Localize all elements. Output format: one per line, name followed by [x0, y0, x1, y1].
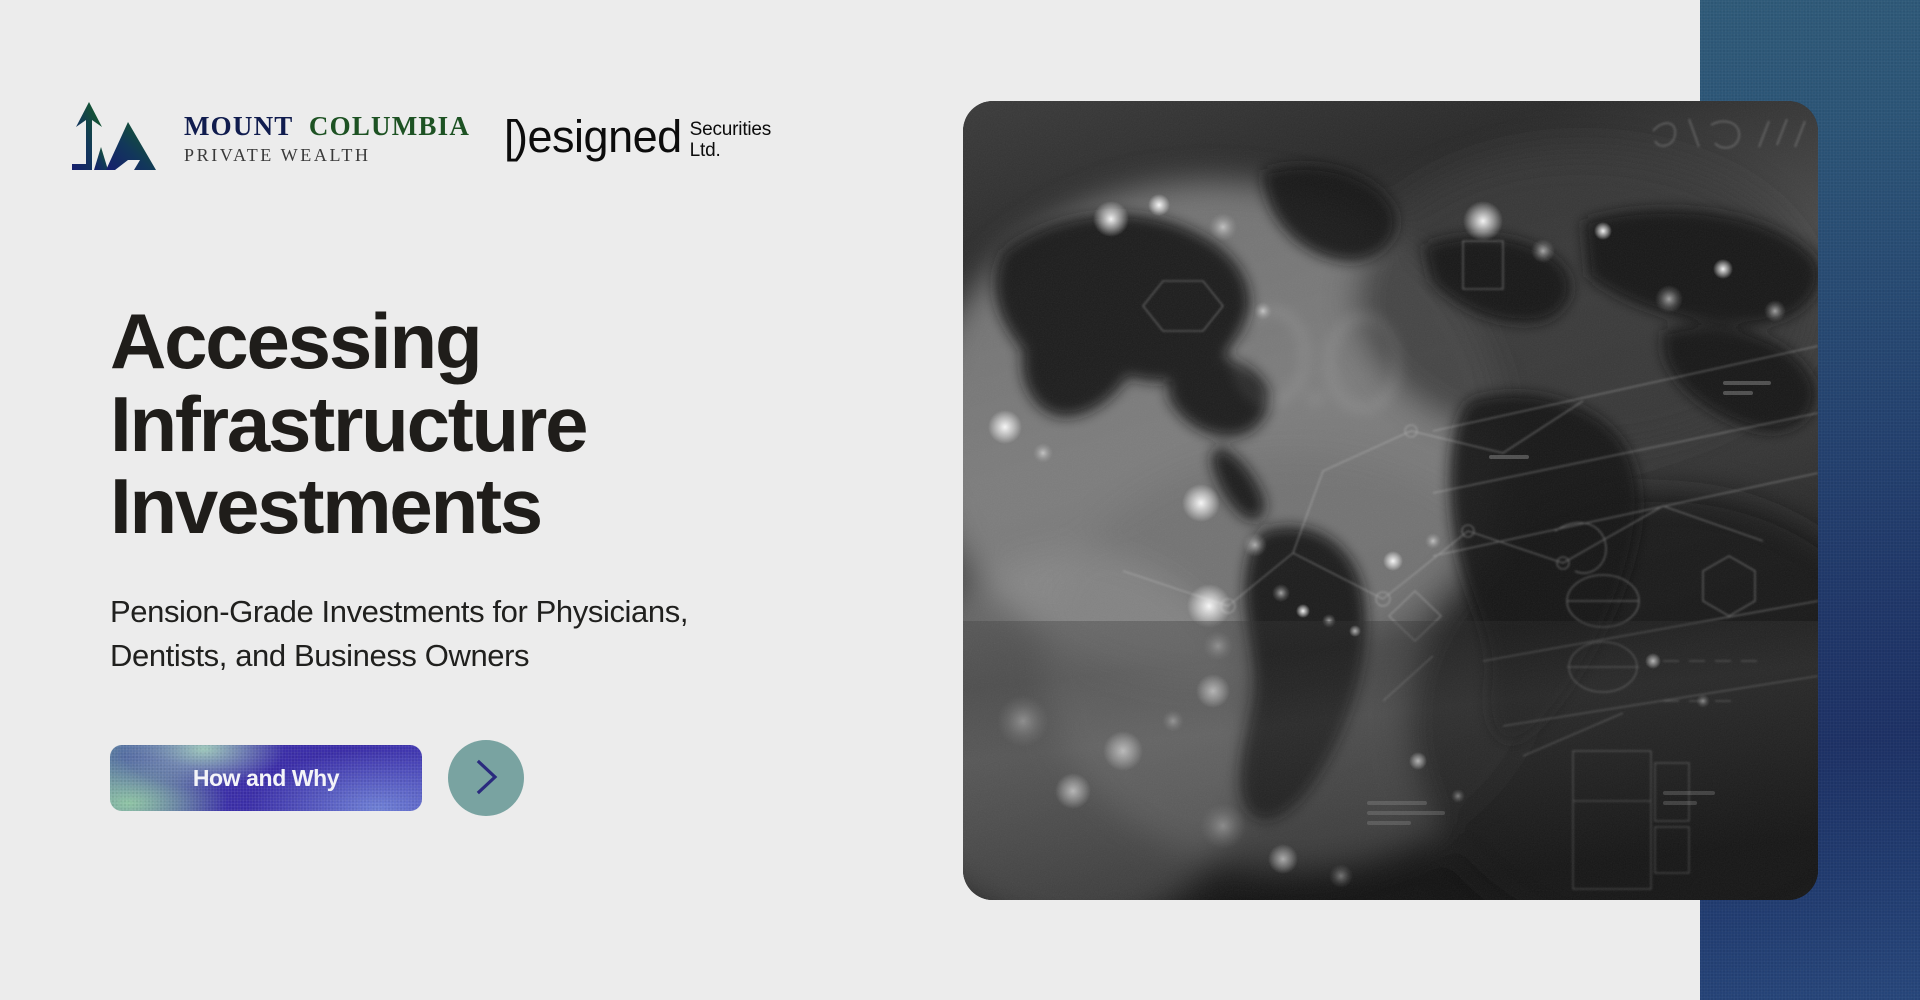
mount-columbia-wordmark: MOUNT COLUMBIA PRIVATE WEALTH — [184, 113, 470, 164]
hero-subtitle: Pension-Grade Investments for Physicians… — [110, 590, 770, 678]
mount-columbia-name: MOUNT COLUMBIA — [184, 113, 470, 140]
headline-line-2: Infrastructure — [110, 383, 870, 466]
brand-tagline: PRIVATE WEALTH — [184, 146, 470, 164]
designed-word: )esigned — [513, 116, 682, 157]
securities-line: Securities — [690, 120, 771, 141]
cta-row: How and Why — [110, 740, 870, 816]
mount-columbia-logo[interactable]: MOUNT COLUMBIA PRIVATE WEALTH — [68, 100, 470, 177]
how-and-why-label: How and Why — [193, 765, 339, 792]
hero-slide: MOUNT COLUMBIA PRIVATE WEALTH [ )esigned… — [0, 0, 1920, 1000]
hero-copy: Accessing Infrastructure Investments Pen… — [110, 300, 870, 816]
ltd-line: Ltd. — [690, 141, 771, 162]
designed-wordmark: [ )esigned — [504, 116, 682, 157]
brand-word-columbia: COLUMBIA — [309, 111, 470, 141]
next-arrow-button[interactable] — [448, 740, 524, 816]
page-title: Accessing Infrastructure Investments — [110, 300, 870, 548]
world-map-data-visualization — [963, 101, 1818, 900]
headline-line-3: Investments — [110, 465, 870, 548]
hero-image-card — [963, 101, 1818, 900]
designed-securities-logo[interactable]: [ )esigned Securities Ltd. — [504, 116, 771, 161]
headline-line-1: Accessing — [110, 300, 870, 383]
mountain-arrow-icon — [68, 100, 172, 177]
brand-row: MOUNT COLUMBIA PRIVATE WEALTH [ )esigned… — [68, 100, 771, 177]
brand-word-mount: MOUNT — [184, 111, 293, 141]
how-and-why-button[interactable]: How and Why — [110, 745, 422, 811]
chevron-right-icon — [469, 757, 503, 800]
securities-ltd-wordmark: Securities Ltd. — [690, 116, 771, 161]
